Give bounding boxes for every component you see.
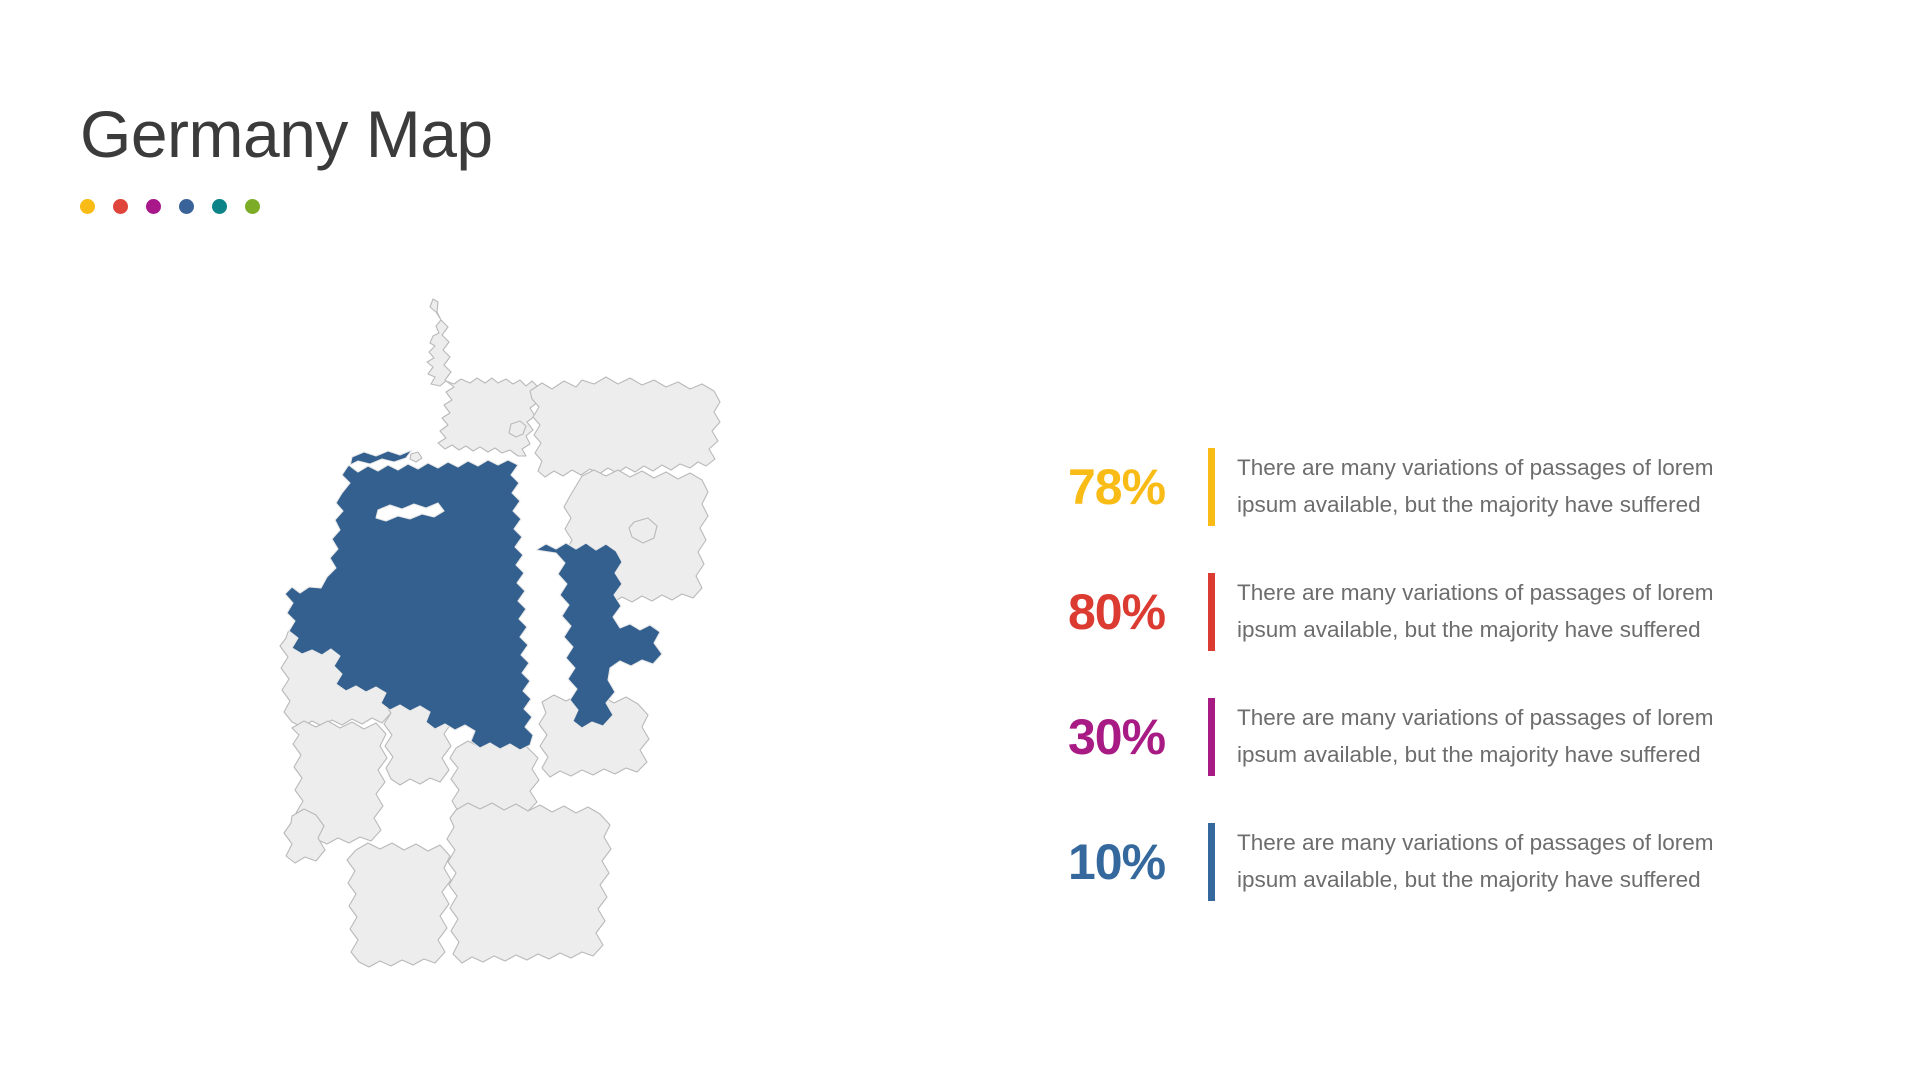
- dot-green-icon: [245, 199, 260, 214]
- stat-description-line-1: There are many variations of passages of…: [1237, 700, 1713, 736]
- region-baden-wuerttemberg[interactable]: [347, 843, 451, 967]
- region-mecklenburg-vorpommern[interactable]: [530, 377, 720, 477]
- stat-description: There are many variations of passages of…: [1237, 575, 1713, 648]
- stat-description-line-1: There are many variations of passages of…: [1237, 575, 1713, 611]
- dot-red-icon: [113, 199, 128, 214]
- stat-item: 10%There are many variations of passages…: [1068, 799, 1808, 924]
- stat-accent-bar: [1208, 823, 1215, 901]
- stat-description-line-1: There are many variations of passages of…: [1237, 825, 1713, 861]
- page-title: Germany Map: [80, 100, 493, 169]
- stat-percent: 78%: [1068, 462, 1208, 512]
- dot-magenta-icon: [146, 199, 161, 214]
- germany-map-panel: [230, 250, 830, 1040]
- stat-description-line-2: ipsum available, but the majority have s…: [1237, 612, 1713, 648]
- stat-description: There are many variations of passages of…: [1237, 825, 1713, 898]
- stat-accent-bar: [1208, 573, 1215, 651]
- stat-item: 30%There are many variations of passages…: [1068, 674, 1808, 799]
- stat-description-line-2: ipsum available, but the majority have s…: [1237, 737, 1713, 773]
- stat-description-line-2: ipsum available, but the majority have s…: [1237, 862, 1713, 898]
- stat-percent: 80%: [1068, 587, 1208, 637]
- stat-item: 80%There are many variations of passages…: [1068, 549, 1808, 674]
- stat-item: 78%There are many variations of passages…: [1068, 424, 1808, 549]
- stat-accent-bar: [1208, 448, 1215, 526]
- stat-description: There are many variations of passages of…: [1237, 700, 1713, 773]
- accent-dot-row: [80, 199, 493, 214]
- germany-map: [230, 250, 830, 1040]
- stat-percent: 30%: [1068, 712, 1208, 762]
- title-block: Germany Map: [80, 100, 493, 214]
- stats-list: 78%There are many variations of passages…: [1068, 424, 1808, 924]
- stat-description: There are many variations of passages of…: [1237, 450, 1713, 523]
- stat-description-line-2: ipsum available, but the majority have s…: [1237, 487, 1713, 523]
- dot-teal-icon: [212, 199, 227, 214]
- region-bremerhaven[interactable]: [410, 452, 422, 462]
- stat-description-line-1: There are many variations of passages of…: [1237, 450, 1713, 486]
- stat-percent: 10%: [1068, 837, 1208, 887]
- region-bavaria[interactable]: [447, 803, 611, 963]
- dot-amber-icon: [80, 199, 95, 214]
- dot-blue-icon: [179, 199, 194, 214]
- stat-accent-bar: [1208, 698, 1215, 776]
